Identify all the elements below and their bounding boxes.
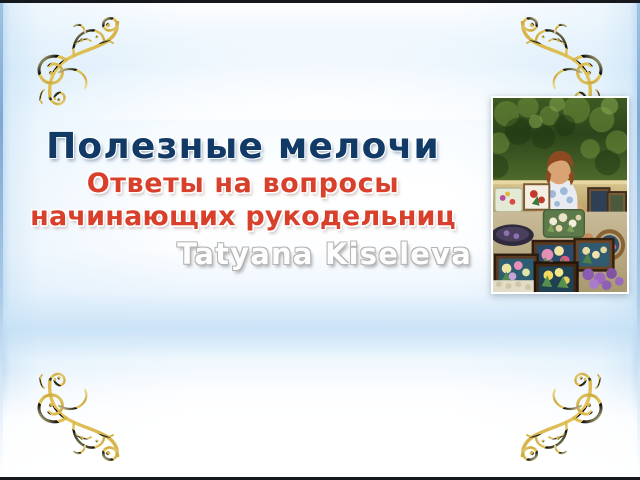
slide-text-block: Полезные мелочи Ответы на вопросы начина…: [0, 128, 486, 270]
slide-author-name: Tatyana Kiseleva: [0, 239, 486, 271]
slide-subtitle-line-2: начинающих рукодельниц: [0, 201, 486, 233]
photo-craftswoman-with-embroidered-artworks: [491, 96, 629, 294]
slide-subtitle-line-1: Ответы на вопросы: [0, 168, 486, 200]
slide-top-border: [0, 0, 640, 3]
background-middle-band: [0, 292, 640, 360]
slide-left-border: [0, 3, 3, 477]
slide-title: Полезные мелочи: [0, 128, 486, 166]
background-bottom-fade: [0, 370, 640, 480]
presentation-slide: Полезные мелочи Ответы на вопросы начина…: [0, 0, 640, 480]
